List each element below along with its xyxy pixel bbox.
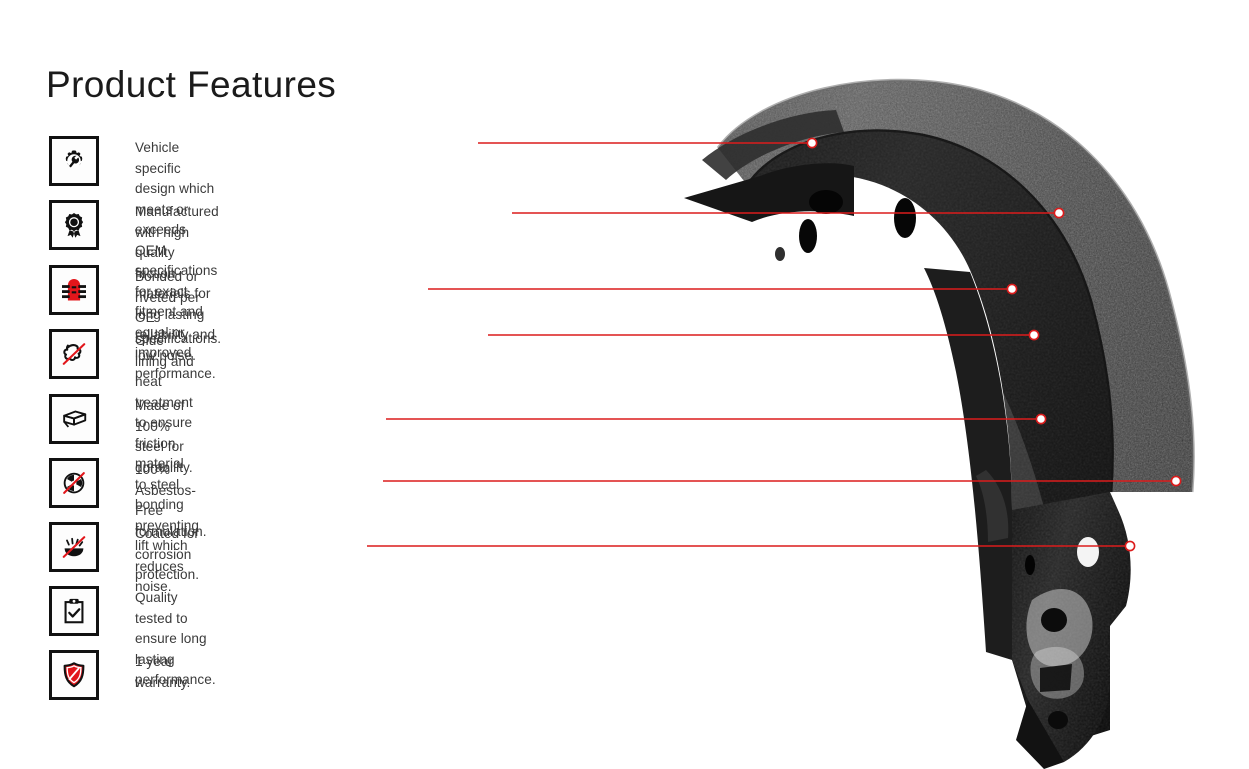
- rivet-bond-icon: [49, 265, 99, 315]
- anchor-hole-1: [1077, 537, 1099, 567]
- asbestos-free-icon: [49, 458, 99, 508]
- shield-warranty-icon: [49, 650, 99, 700]
- web-dimple-top: [775, 247, 785, 261]
- anchor-hole-3: [1041, 608, 1067, 632]
- corrosion-protection-icon: [49, 522, 99, 572]
- steel-plate-icon: [49, 394, 99, 444]
- clipboard-check-icon: [49, 586, 99, 636]
- gear-wrench-icon: [49, 136, 99, 186]
- product-image-brake-shoe: [640, 40, 1249, 769]
- anchor-hole-4: [1048, 711, 1068, 729]
- award-rosette-icon: [49, 200, 99, 250]
- anchor-hole-2: [1025, 555, 1035, 575]
- web-hole-top-1: [809, 190, 843, 214]
- anchor-slot: [1040, 664, 1072, 692]
- feature-text-7: Coated for corrosion protection.: [135, 524, 199, 586]
- no-noise-icon: [49, 329, 99, 379]
- web-hole-top-2: [799, 219, 817, 253]
- feature-text-9: 1 year warranty.: [135, 652, 190, 693]
- web-hole-top-3: [894, 198, 916, 238]
